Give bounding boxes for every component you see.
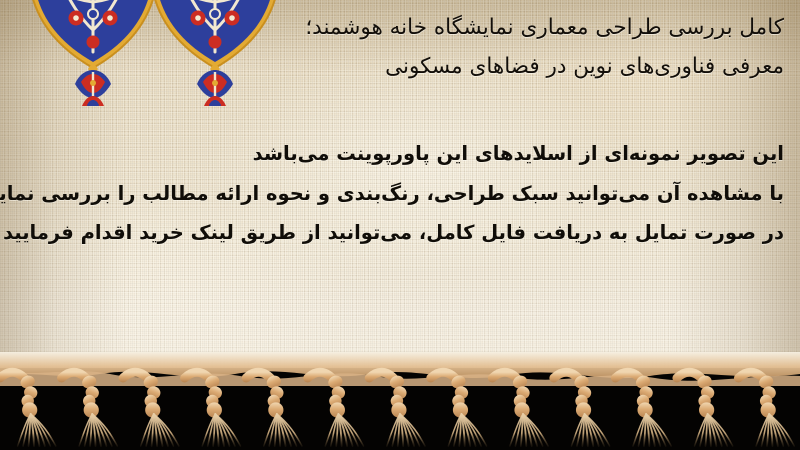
slide-text-layer: کامل بررسی طراحی معماری نمایشگاه خانه هو… bbox=[0, 0, 800, 392]
body-line-1: این تصویر نمونه‌ای از اسلایدهای این پاور… bbox=[16, 134, 784, 174]
slide-canvas: کامل بررسی طراحی معماری نمایشگاه خانه هو… bbox=[0, 0, 800, 450]
page-title: کامل بررسی طراحی معماری نمایشگاه خانه هو… bbox=[16, 8, 784, 86]
body-text: این تصویر نمونه‌ای از اسلایدهای این پاور… bbox=[16, 134, 784, 253]
body-line-3: در صورت تمایل به دریافت فایل کامل، می‌تو… bbox=[16, 213, 784, 253]
knotted-carpet-fringe bbox=[0, 352, 800, 450]
title-line-1: کامل بررسی طراحی معماری نمایشگاه خانه هو… bbox=[16, 8, 784, 47]
title-line-2: معرفی فناوری‌های نوین در فضاهای مسکونی bbox=[16, 47, 784, 86]
body-line-2: با مشاهده آن می‌توانید سبک طراحی، رنگ‌بن… bbox=[16, 174, 784, 214]
